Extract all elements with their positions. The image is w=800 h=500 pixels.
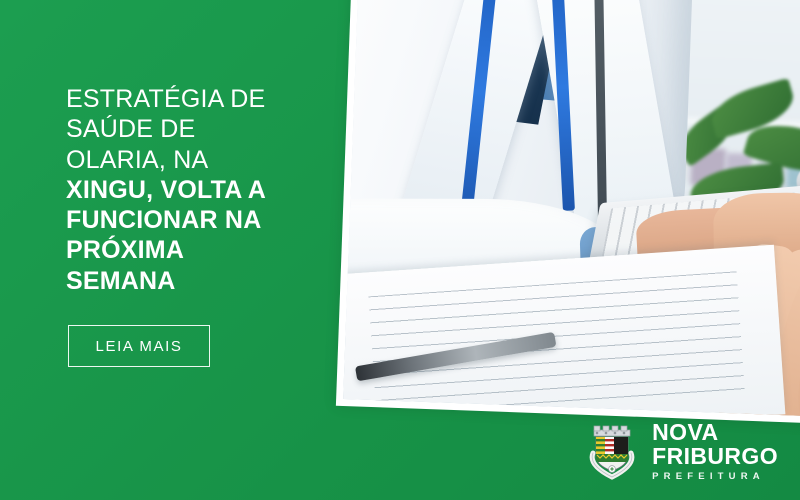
headline-line-2: SAÚDE DE xyxy=(66,114,336,144)
photo-card xyxy=(336,0,800,425)
nova-friburgo-coat-of-arms-icon xyxy=(585,423,639,481)
document-lines xyxy=(369,271,746,417)
headline-line-5: FUNCIONAR NA xyxy=(66,205,336,235)
logo-subtitle: PREFEITURA xyxy=(652,471,778,482)
headline-line-4: XINGU, VOLTA A xyxy=(66,175,336,205)
logo-line-1: NOVA xyxy=(652,421,778,444)
prefeitura-logo: NOVA FRIBURGO PREFEITURA xyxy=(585,421,778,482)
logo-line-2: FRIBURGO xyxy=(652,445,778,468)
headline-line-1: ESTRATÉGIA DE xyxy=(66,84,336,114)
headline: ESTRATÉGIA DE SAÚDE DE OLARIA, NA XINGU,… xyxy=(66,84,336,296)
headline-line-6: PRÓXIMA xyxy=(66,235,336,265)
document-sheet xyxy=(343,245,785,418)
headline-line-7: SEMANA xyxy=(66,266,336,296)
read-more-button[interactable]: LEIA MAIS xyxy=(68,325,210,367)
news-banner: ESTRATÉGIA DE SAÚDE DE OLARIA, NA XINGU,… xyxy=(0,0,800,500)
doctor-photo xyxy=(343,0,800,418)
headline-line-3: OLARIA, NA xyxy=(66,145,336,175)
logo-text: NOVA FRIBURGO PREFEITURA xyxy=(652,421,778,482)
